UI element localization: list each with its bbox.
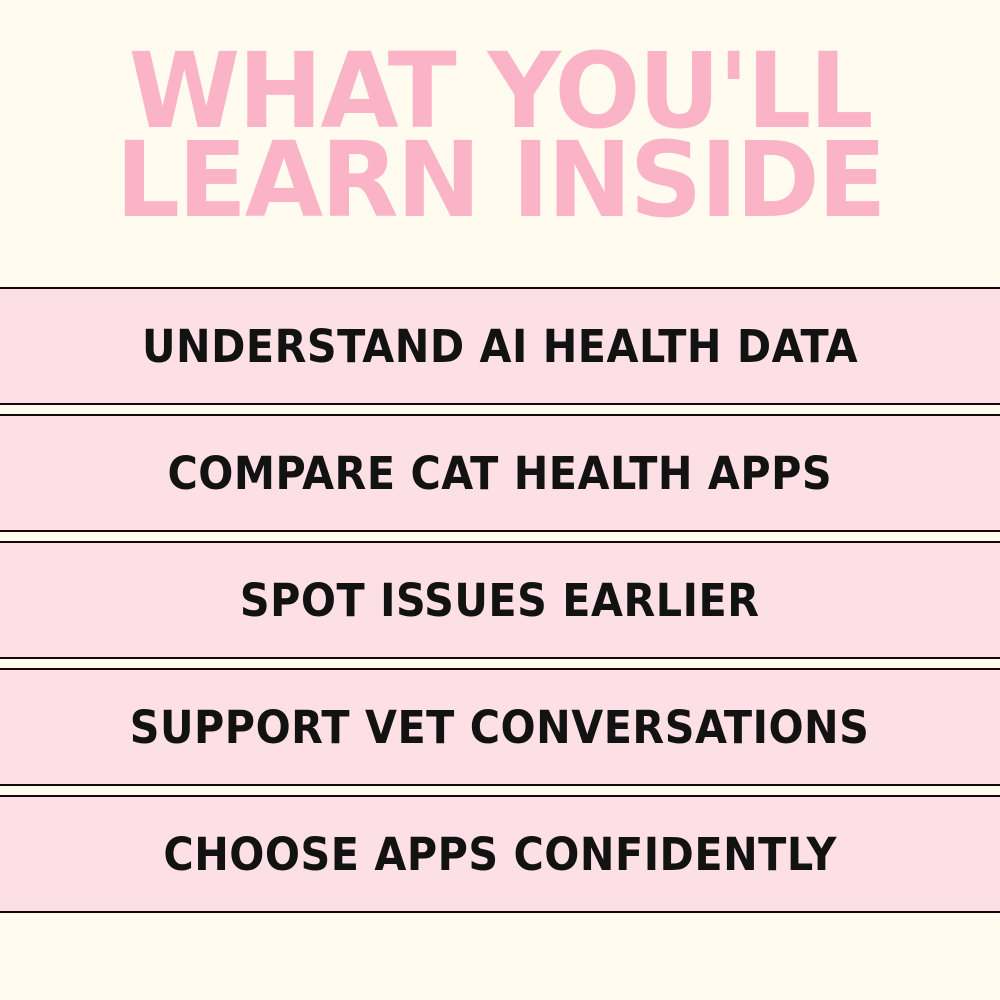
- list-item: SPOT ISSUES EARLIER: [0, 541, 1000, 659]
- list-item: UNDERSTAND AI HEALTH DATA: [0, 287, 1000, 405]
- list-item: COMPARE CAT HEALTH APPS: [0, 414, 1000, 532]
- list-item: SUPPORT VET CONVERSATIONS: [0, 668, 1000, 786]
- list-item-label: CHOOSE APPS CONFIDENTLY: [163, 832, 837, 877]
- poster-canvas: WHAT YOU'LL LEARN INSIDE UNDERSTAND AI H…: [0, 0, 1000, 1000]
- page-title: WHAT YOU'LL LEARN INSIDE: [0, 47, 1000, 226]
- list-item-label: UNDERSTAND AI HEALTH DATA: [142, 324, 858, 369]
- title-line-2: LEARN INSIDE: [0, 136, 1000, 225]
- list-item: CHOOSE APPS CONFIDENTLY: [0, 795, 1000, 913]
- list-item-label: SUPPORT VET CONVERSATIONS: [130, 705, 870, 750]
- list-item-label: SPOT ISSUES EARLIER: [240, 578, 760, 623]
- list-item-label: COMPARE CAT HEALTH APPS: [168, 451, 833, 496]
- learning-points-list: UNDERSTAND AI HEALTH DATA COMPARE CAT HE…: [0, 287, 1000, 913]
